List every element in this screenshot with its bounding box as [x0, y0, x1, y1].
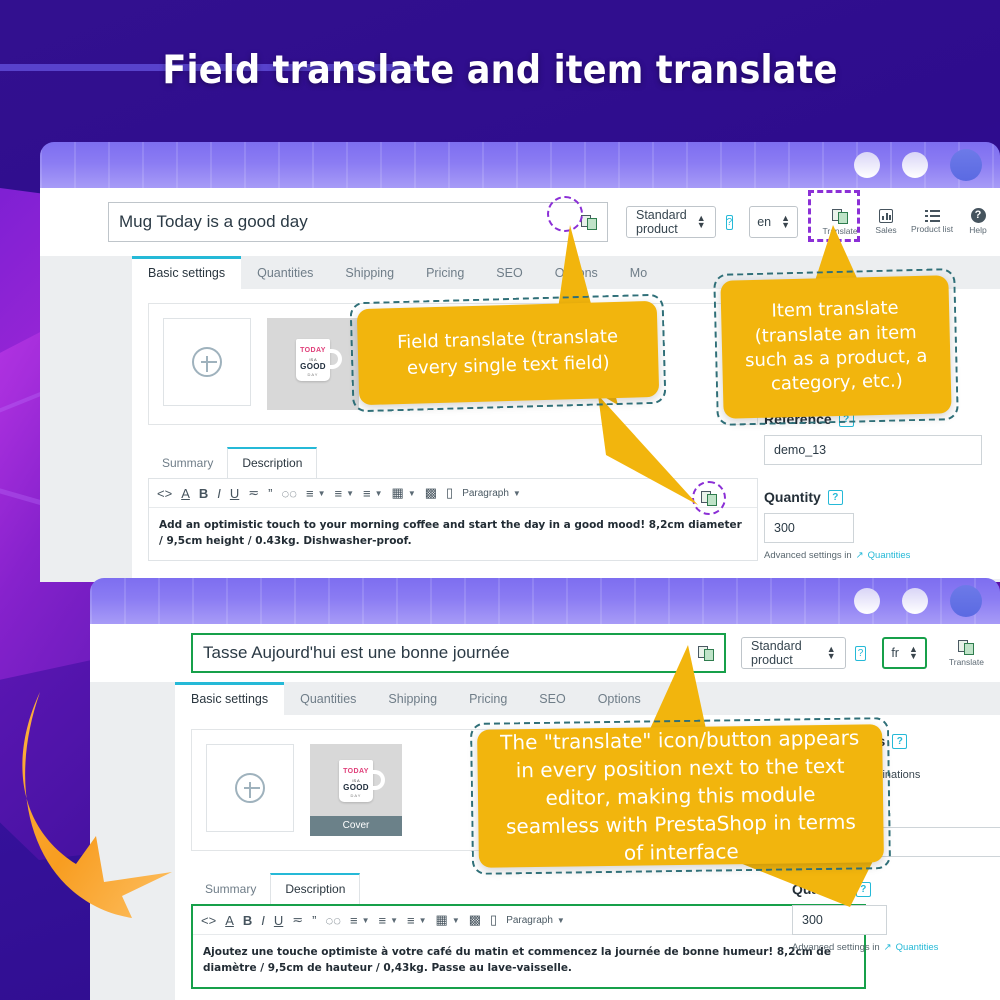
tab-quantities[interactable]: Quantities: [284, 683, 372, 715]
chevron-down-icon[interactable]: ▼: [419, 916, 427, 925]
strikethrough-icon[interactable]: ≂: [248, 485, 259, 501]
image-icon[interactable]: ▩: [469, 912, 481, 928]
chevron-updown-icon: ▲▼: [781, 215, 790, 229]
toolbar-product-list-label: Product list: [911, 224, 953, 234]
chevron-down-icon[interactable]: ▼: [318, 489, 326, 498]
quantity-label: Quantity: [764, 489, 821, 505]
combinations-help-icon[interactable]: ?: [892, 734, 907, 749]
mug-illustration: TODAY IS A GOOD DAY: [339, 760, 373, 802]
advanced-settings-text: Advanced settings in: [764, 550, 852, 561]
advanced-settings-text: Advanced settings in: [792, 942, 880, 953]
product-header-bar: Tasse Aujourd'hui est une bonne journée …: [90, 624, 1000, 682]
image-icon[interactable]: ▩: [425, 485, 437, 501]
mug-text-line4: DAY: [296, 372, 330, 377]
chevron-down-icon[interactable]: ▼: [557, 916, 565, 925]
product-name-value: Mug Today is a good day: [119, 212, 581, 232]
table-icon[interactable]: ▦: [392, 485, 404, 501]
align-icon[interactable]: ≡: [350, 913, 358, 928]
tab-quantities[interactable]: Quantities: [241, 257, 329, 289]
product-type-select[interactable]: Standard product ▲▼: [741, 637, 846, 669]
chevron-down-icon[interactable]: ▼: [375, 489, 383, 498]
product-tabs[interactable]: Basic settings Quantities Shipping Prici…: [90, 682, 1000, 715]
language-value: en: [757, 215, 771, 229]
mug-illustration: TODAY IS A GOOD DAY: [296, 339, 330, 381]
video-icon[interactable]: ▯: [490, 912, 497, 928]
language-value: fr: [891, 646, 899, 660]
window-control-minimize[interactable]: [854, 152, 880, 178]
chevron-down-icon[interactable]: ▼: [390, 916, 398, 925]
advanced-settings-note: Advanced settings in ↗ Quantities: [764, 550, 982, 561]
window-controls[interactable]: [854, 585, 982, 617]
quantity-input[interactable]: 300: [764, 513, 854, 543]
chevron-down-icon[interactable]: ▼: [362, 916, 370, 925]
tab-seo[interactable]: SEO: [480, 257, 538, 289]
callout-arrow-icon-position-down: [700, 855, 900, 925]
chart-icon: [879, 209, 893, 223]
tab-seo[interactable]: SEO: [523, 683, 581, 715]
chevron-down-icon[interactable]: ▼: [346, 489, 354, 498]
callout-field-translate: Field translate (translate every single …: [357, 301, 660, 405]
description-text[interactable]: Ajoutez une touche optimiste à votre caf…: [193, 935, 864, 987]
italic-icon[interactable]: I: [261, 913, 265, 928]
external-link-icon[interactable]: ↗: [884, 942, 892, 953]
product-image-thumbnail[interactable]: TODAY IS A GOOD DAY Cover: [310, 744, 402, 836]
subtab-description[interactable]: Description: [270, 873, 360, 904]
page-title: Field translate and item translate: [0, 48, 1000, 93]
quantity-label-row: Quantity ?: [764, 489, 982, 505]
reference-value: demo_13: [774, 443, 826, 457]
tab-shipping[interactable]: Shipping: [329, 257, 410, 289]
tab-shipping[interactable]: Shipping: [372, 683, 453, 715]
tab-pricing[interactable]: Pricing: [453, 683, 523, 715]
window-control-maximize[interactable]: [902, 588, 928, 614]
italic-icon[interactable]: I: [217, 486, 221, 501]
window-titlebar: [40, 142, 1000, 188]
callout-icon-position: The "translate" icon/button appears in e…: [477, 724, 884, 868]
list-icon: [925, 210, 940, 222]
callout-item-translate-text: Item translate (translate an item such a…: [739, 296, 933, 398]
add-image-button[interactable]: [163, 318, 251, 406]
product-type-value: Standard product: [751, 639, 817, 667]
window-control-close[interactable]: [950, 149, 982, 181]
bold-icon[interactable]: B: [199, 486, 208, 501]
mug-text-line3: GOOD: [296, 362, 330, 371]
plus-icon: [235, 773, 265, 803]
align-icon[interactable]: ≡: [306, 486, 314, 501]
quantity-help-icon[interactable]: ?: [828, 490, 843, 505]
paragraph-format-select[interactable]: Paragraph: [506, 915, 553, 926]
blockquote-icon[interactable]: ”: [268, 486, 272, 501]
mug-text-line3: GOOD: [339, 783, 373, 792]
mug-text-line4: DAY: [339, 793, 373, 798]
advanced-settings-link[interactable]: Quantities: [896, 942, 939, 953]
product-image-thumbnail[interactable]: TODAY IS A GOOD DAY: [267, 318, 359, 410]
product-right-column: Reference ? demo_13 Quantity ? 300 Advan…: [764, 411, 982, 561]
window-control-minimize[interactable]: [854, 588, 880, 614]
external-link-icon[interactable]: ↗: [856, 550, 864, 561]
blockquote-icon[interactable]: ”: [312, 913, 316, 928]
window-control-maximize[interactable]: [902, 152, 928, 178]
chevron-down-icon[interactable]: ▼: [408, 489, 416, 498]
callout-item-translate: Item translate (translate an item such a…: [720, 275, 951, 419]
window-control-close[interactable]: [950, 585, 982, 617]
toolbar-translate-label: Translate: [949, 657, 984, 667]
language-select[interactable]: fr ▲▼: [882, 637, 927, 669]
bullet-list-icon[interactable]: ≡: [378, 913, 386, 928]
tab-basic-settings[interactable]: Basic settings: [132, 256, 241, 289]
toolbar-help-button[interactable]: ? Help: [956, 208, 1000, 236]
strikethrough-icon[interactable]: ≂: [292, 912, 303, 928]
text-color-icon[interactable]: A: [181, 486, 190, 501]
callout-icon-position-text: The "translate" icon/button appears in e…: [495, 723, 866, 868]
source-code-icon[interactable]: <>: [157, 486, 172, 501]
reference-input[interactable]: demo_13: [764, 435, 982, 465]
window-titlebar: [90, 578, 1000, 624]
chevron-updown-icon: ▲▼: [909, 646, 918, 660]
chevron-down-icon[interactable]: ▼: [513, 489, 521, 498]
product-name-input[interactable]: Mug Today is a good day: [108, 202, 608, 242]
numbered-list-icon[interactable]: ≡: [407, 913, 415, 928]
link-icon[interactable]: ◌◌: [326, 913, 341, 928]
paragraph-format-select[interactable]: Paragraph: [462, 488, 509, 499]
quantity-value: 300: [774, 521, 795, 535]
translate-icon: [958, 639, 974, 655]
subtab-summary[interactable]: Summary: [148, 448, 227, 478]
product-name-value: Tasse Aujourd'hui est une bonne journée: [203, 643, 698, 663]
product-type-help-icon[interactable]: ?: [855, 646, 867, 661]
text-color-icon[interactable]: A: [225, 913, 234, 928]
language-select[interactable]: en ▲▼: [749, 206, 798, 238]
underline-icon[interactable]: U: [274, 913, 283, 928]
advanced-settings-link[interactable]: Quantities: [868, 550, 911, 561]
numbered-list-icon[interactable]: ≡: [363, 486, 371, 501]
window-controls[interactable]: [854, 149, 982, 181]
subtab-description[interactable]: Description: [227, 447, 317, 478]
bullet-list-icon[interactable]: ≡: [334, 486, 342, 501]
mug-text-line1: TODAY: [339, 768, 373, 775]
translate-icon: [832, 208, 848, 224]
chevron-updown-icon: ▲▼: [827, 646, 836, 660]
video-icon[interactable]: ▯: [446, 485, 453, 501]
table-icon[interactable]: ▦: [436, 912, 448, 928]
big-curved-arrow: [4, 686, 204, 936]
toolbar-translate-button[interactable]: Translate: [949, 639, 984, 668]
callout-field-translate-text: Field translate (translate every single …: [375, 323, 640, 383]
help-icon: ?: [971, 208, 986, 223]
bold-icon[interactable]: B: [243, 913, 252, 928]
chevron-down-icon[interactable]: ▼: [452, 916, 460, 925]
toolbar-product-list-button[interactable]: Product list: [910, 210, 954, 235]
underline-icon[interactable]: U: [230, 486, 239, 501]
cover-badge: Cover: [310, 816, 402, 836]
toolbar-help-label: Help: [969, 225, 986, 235]
add-image-button[interactable]: [206, 744, 294, 832]
advanced-settings-note: Advanced settings in ↗ Quantities: [792, 942, 1000, 953]
link-icon[interactable]: ◌◌: [282, 486, 297, 501]
plus-icon: [192, 347, 222, 377]
mug-text-line1: TODAY: [296, 347, 330, 354]
tab-pricing[interactable]: Pricing: [410, 257, 480, 289]
